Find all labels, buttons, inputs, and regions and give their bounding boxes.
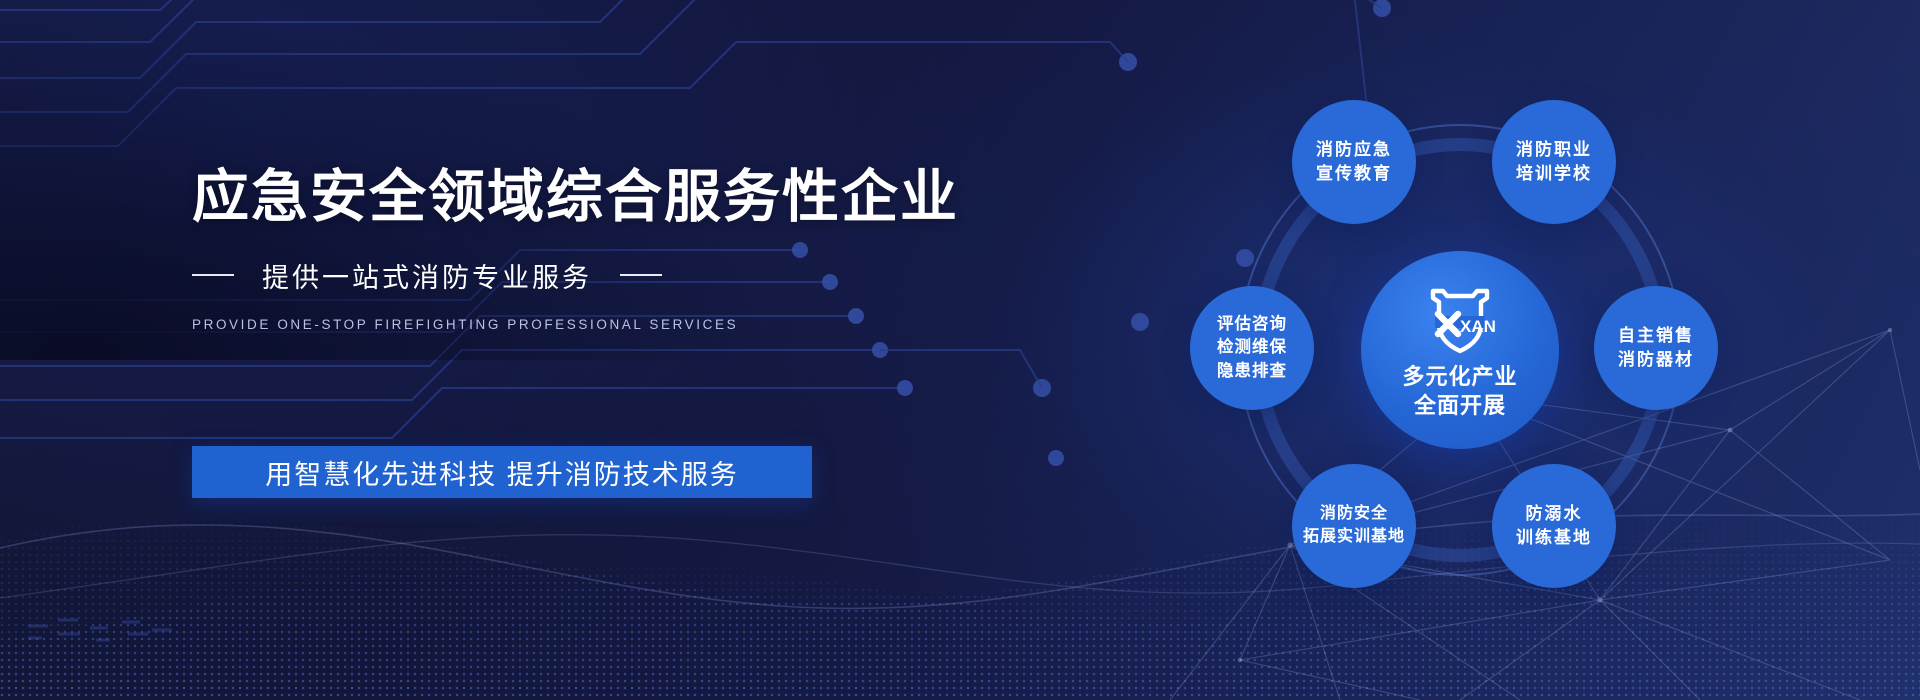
- page-title: 应急安全领域综合服务性企业: [192, 166, 1012, 230]
- node-line-2: 拓展实训基地: [1303, 526, 1405, 549]
- node-line-1: 消防职业: [1516, 138, 1592, 162]
- node-line-1: 评估咨询: [1217, 313, 1287, 336]
- diagram-center-node[interactable]: XAN 多元化产业 全面开展: [1361, 251, 1559, 449]
- node-line-2: 消防器材: [1618, 348, 1694, 372]
- hero-copy: 应急安全领域综合服务性企业 提供一站式消防专业服务 PROVIDE ONE-ST…: [192, 166, 1012, 332]
- node-fire-emergency-education[interactable]: 消防应急 宣传教育: [1292, 100, 1416, 224]
- node-line-2: 培训学校: [1516, 162, 1592, 186]
- node-line-1: 消防安全: [1320, 503, 1388, 526]
- node-line-1: 防溺水: [1526, 502, 1583, 526]
- svg-text:XAN: XAN: [1460, 317, 1496, 336]
- cta-banner-label: 用智慧化先进科技 提升消防技术服务: [265, 453, 739, 492]
- node-anti-drowning-base[interactable]: 防溺水 训练基地: [1492, 464, 1616, 588]
- node-line-2: 宣传教育: [1316, 162, 1392, 186]
- node-line-3: 隐患排查: [1217, 360, 1287, 383]
- node-line-2: 训练基地: [1516, 526, 1592, 550]
- node-line-1: 自主销售: [1618, 324, 1694, 348]
- hero-banner: 应急安全领域综合服务性企业 提供一站式消防专业服务 PROVIDE ONE-ST…: [0, 0, 1920, 700]
- node-line-1: 消防应急: [1316, 138, 1392, 162]
- rule-left-icon: [192, 274, 234, 276]
- hero-subtitle-english: PROVIDE ONE-STOP FIREFIGHTING PROFESSION…: [192, 317, 1012, 332]
- node-line-2: 检测维保: [1217, 336, 1287, 359]
- center-line-2: 全面开展: [1414, 391, 1506, 420]
- hero-subtitle-text: 提供一站式消防专业服务: [262, 256, 592, 295]
- center-line-1: 多元化产业: [1402, 362, 1517, 391]
- node-fire-safety-training-base[interactable]: 消防安全 拓展实训基地: [1292, 464, 1416, 588]
- hero-subtitle: 提供一站式消防专业服务: [192, 256, 1012, 295]
- node-assessment-inspection[interactable]: 评估咨询 检测维保 隐患排查: [1190, 286, 1314, 410]
- node-fire-vocational-school[interactable]: 消防职业 培训学校: [1492, 100, 1616, 224]
- cta-banner[interactable]: 用智慧化先进科技 提升消防技术服务: [192, 446, 812, 498]
- node-equipment-sales[interactable]: 自主销售 消防器材: [1594, 286, 1718, 410]
- shield-logo-icon: XAN: [1423, 280, 1497, 358]
- rule-right-icon: [620, 274, 662, 276]
- services-orbit-diagram: XAN 多元化产业 全面开展 消防应急 宣传教育 消防职业 培训学校 自主销售 …: [1110, 60, 1810, 640]
